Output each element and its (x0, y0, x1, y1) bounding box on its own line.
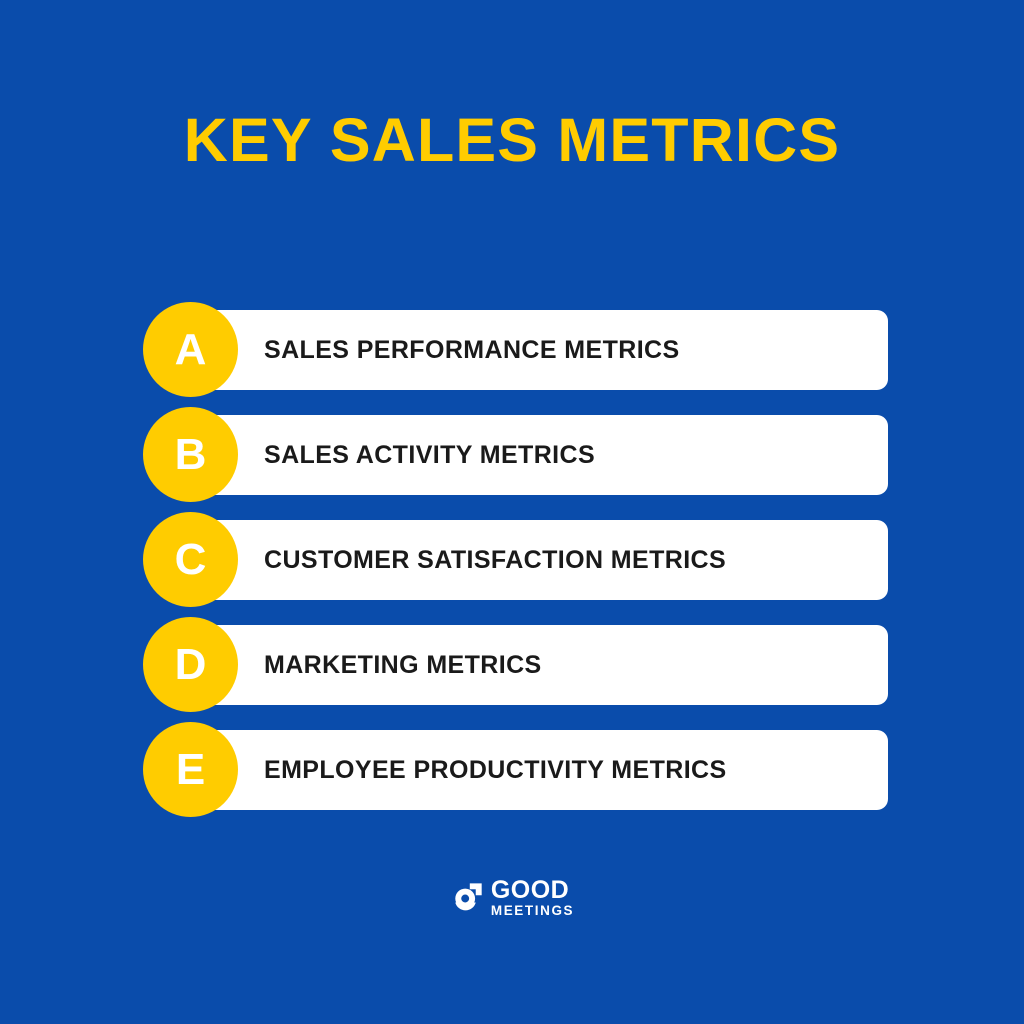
list-item-badge: D (143, 617, 238, 712)
list-item[interactable]: EMPLOYEE PRODUCTIVITY METRICS E (0, 730, 1024, 810)
list-item-badge: E (143, 722, 238, 817)
list-item[interactable]: SALES ACTIVITY METRICS B (0, 415, 1024, 495)
list-item-label: SALES PERFORMANCE METRICS (264, 310, 680, 390)
poster-canvas: KEY SALES METRICS SALES PERFORMANCE METR… (0, 0, 1024, 1024)
g-logo-icon (450, 882, 483, 915)
list-item-bar: MARKETING METRICS (188, 625, 888, 705)
list-item-bar: SALES PERFORMANCE METRICS (188, 310, 888, 390)
list-item-label: CUSTOMER SATISFACTION METRICS (264, 520, 726, 600)
list-item-label: EMPLOYEE PRODUCTIVITY METRICS (264, 730, 727, 810)
list-item-bar: SALES ACTIVITY METRICS (188, 415, 888, 495)
metrics-list: SALES PERFORMANCE METRICS A SALES ACTIVI… (0, 310, 1024, 810)
list-item[interactable]: MARKETING METRICS D (0, 625, 1024, 705)
list-item-label: MARKETING METRICS (264, 625, 542, 705)
logo-wordmark: GOOD MEETINGS (491, 878, 574, 919)
list-item[interactable]: SALES PERFORMANCE METRICS A (0, 310, 1024, 390)
brand-logo: GOOD MEETINGS (0, 878, 1024, 919)
logo-line-1: GOOD (491, 878, 574, 902)
list-item-badge: A (143, 302, 238, 397)
list-item-bar: EMPLOYEE PRODUCTIVITY METRICS (188, 730, 888, 810)
list-item-label: SALES ACTIVITY METRICS (264, 415, 595, 495)
page-title: KEY SALES METRICS (0, 108, 1024, 172)
list-item-bar: CUSTOMER SATISFACTION METRICS (188, 520, 888, 600)
list-item-badge: B (143, 407, 238, 502)
logo-line-2: MEETINGS (491, 903, 574, 919)
list-item-badge: C (143, 512, 238, 607)
list-item[interactable]: CUSTOMER SATISFACTION METRICS C (0, 520, 1024, 600)
